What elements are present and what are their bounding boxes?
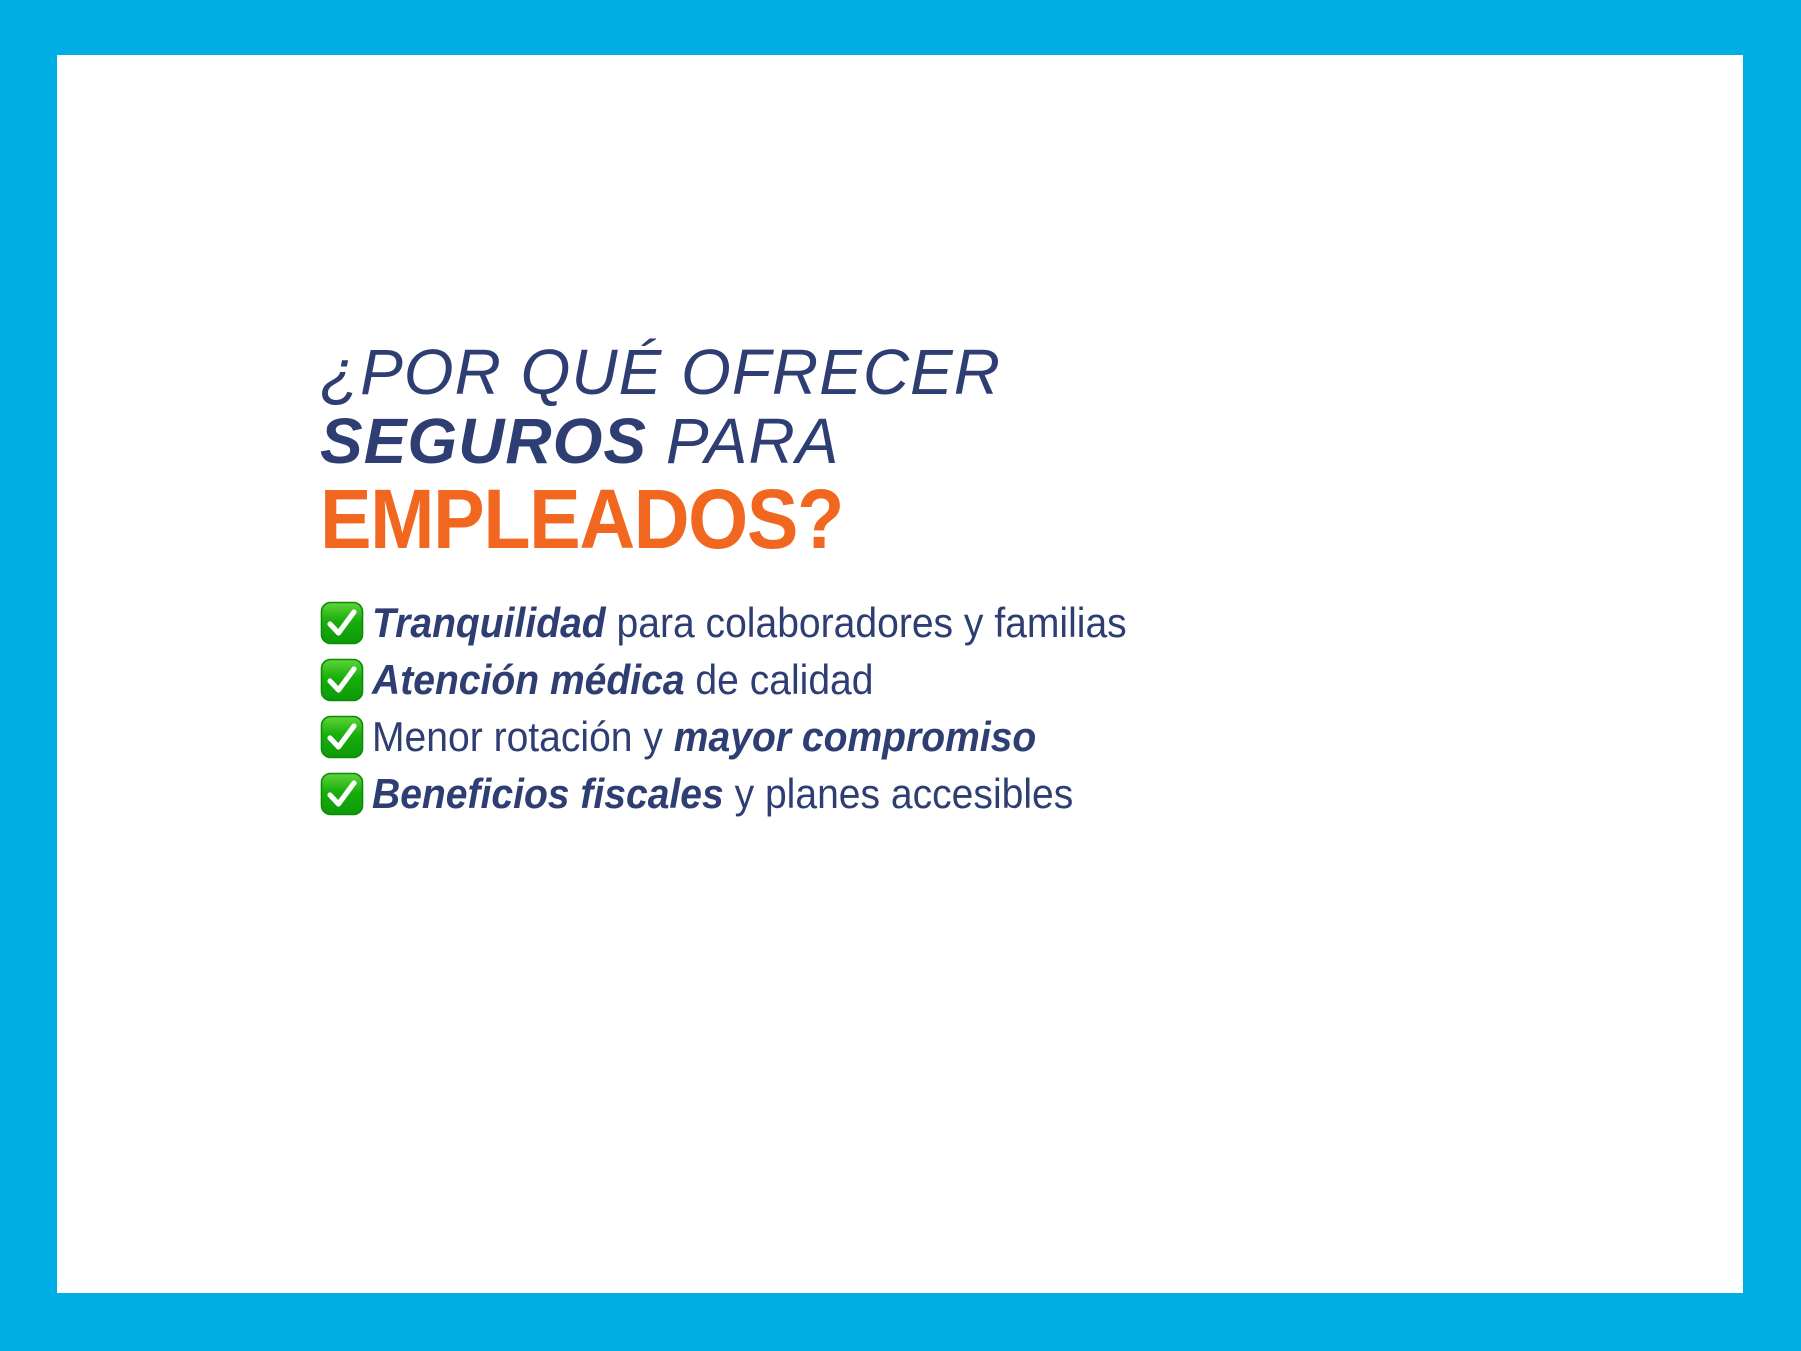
check-mark-button-icon [320,772,364,816]
benefits-list: Tranquilidad para colaboradores y famili… [320,594,1380,822]
slide-frame: ¿POR QUÉ OFRECER SEGUROS PARA EMPLEADOS? [0,0,1801,1351]
list-item-label: Beneficios fiscales y planes accesibles [372,773,1073,815]
list-item: Atención médica de calidad [320,651,1380,708]
list-item: Beneficios fiscales y planes accesibles [320,765,1380,822]
list-item-normal: para colaboradores y familias [606,599,1127,646]
check-mark-button-icon [320,658,364,702]
page-title: ¿POR QUÉ OFRECER SEGUROS PARA EMPLEADOS? [320,340,1380,562]
headline-line-2-light: PARA [647,405,839,477]
slide-canvas: ¿POR QUÉ OFRECER SEGUROS PARA EMPLEADOS? [57,55,1743,1293]
check-mark-button-icon [320,715,364,759]
list-item-normal: y planes accesibles [724,770,1074,817]
list-item-label: Tranquilidad para colaboradores y famili… [372,602,1127,644]
list-item-strong: Atención médica [372,656,685,703]
list-item-label: Atención médica de calidad [372,659,874,701]
check-mark-button-icon [320,601,364,645]
headline-line-2-strong: SEGUROS [320,405,647,477]
list-item-normal: de calidad [685,656,874,703]
content-block: ¿POR QUÉ OFRECER SEGUROS PARA EMPLEADOS? [320,340,1380,822]
list-item-strong: Tranquilidad [372,599,606,646]
list-item: Tranquilidad para colaboradores y famili… [320,594,1380,651]
list-item-strong: mayor compromiso [674,713,1036,760]
list-item-normal: Menor rotación y [372,713,674,760]
list-item: Menor rotación y mayor compromiso [320,708,1380,765]
headline-line-3: EMPLEADOS? [320,477,1295,563]
headline-line-2: SEGUROS PARA [320,409,1380,474]
list-item-label: Menor rotación y mayor compromiso [372,716,1036,758]
headline-line-1: ¿POR QUÉ OFRECER [320,340,1380,405]
list-item-strong: Beneficios fiscales [372,770,724,817]
